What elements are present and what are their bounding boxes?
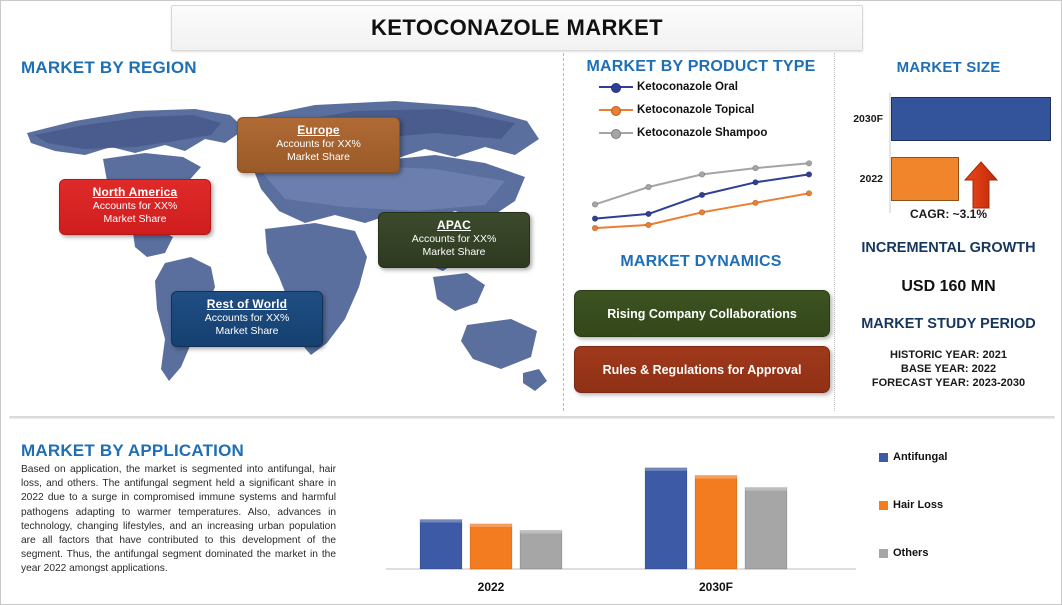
dynamics-label-regulations: Rules & Regulations for Approval bbox=[603, 363, 802, 377]
application-bar-chart: 20222030F bbox=[386, 451, 856, 596]
application-paragraph: Based on application, the market is segm… bbox=[21, 463, 336, 577]
heading-incremental-growth: INCREMENTAL GROWTH bbox=[846, 240, 1051, 256]
region-name-europe: Europe bbox=[242, 123, 395, 138]
product-type-line-chart bbox=[581, 151, 821, 246]
region-share-line1-apac: Accounts for XX% bbox=[383, 233, 525, 246]
legend-item-ketoconazole-shampoo[interactable]: Ketoconazole Shampoo bbox=[599, 127, 819, 139]
legend-marker-oral bbox=[599, 82, 633, 92]
vertical-divider-right bbox=[834, 53, 835, 411]
horizontal-divider bbox=[9, 416, 1055, 419]
region-name-apac: APAC bbox=[383, 218, 525, 233]
region-share-line1-europe: Accounts for XX% bbox=[242, 138, 395, 151]
legend-item-ketoconazole-oral[interactable]: Ketoconazole Oral bbox=[599, 81, 819, 93]
study-period-base-year: BASE YEAR: 2022 bbox=[846, 363, 1051, 375]
incremental-growth-value: USD 160 MN bbox=[846, 278, 1051, 296]
legend-label-oral: Ketoconazole Oral bbox=[637, 81, 738, 93]
legend-label-topical: Ketoconazole Topical bbox=[637, 104, 754, 116]
study-period-historic-year: HISTORIC YEAR: 2021 bbox=[846, 349, 1051, 361]
legend-item-hair-loss[interactable]: Hair Loss bbox=[879, 499, 1054, 511]
cagr-value: CAGR: ~3.1% bbox=[846, 207, 1051, 221]
region-callout-rest-of-world[interactable]: Rest of World Accounts for XX% Market Sh… bbox=[171, 291, 323, 347]
region-callout-apac[interactable]: APAC Accounts for XX% Market Share bbox=[378, 212, 530, 268]
heading-market-size: MARKET SIZE bbox=[846, 59, 1051, 76]
dynamics-item-collaborations[interactable]: Rising Company Collaborations bbox=[574, 290, 830, 337]
region-share-line2-apac: Market Share bbox=[383, 246, 525, 259]
product-type-legend: Ketoconazole Oral Ketoconazole Topical K… bbox=[599, 81, 819, 150]
svg-text:2030F: 2030F bbox=[699, 580, 733, 594]
region-share-line1-north-america: Accounts for XX% bbox=[64, 200, 206, 213]
page-title-bar: KETOCONAZOLE MARKET bbox=[171, 5, 863, 51]
heading-market-by-region: MARKET BY REGION bbox=[21, 58, 197, 78]
market-size-label-2030f: 2030F bbox=[841, 113, 883, 125]
legend-label-hair-loss: Hair Loss bbox=[893, 499, 943, 511]
infographic-page: KETOCONAZOLE MARKET MARKET BY REGION MAR… bbox=[0, 0, 1062, 605]
study-period-forecast-year: FORECAST YEAR: 2023-2030 bbox=[846, 377, 1051, 389]
legend-marker-others bbox=[879, 549, 888, 558]
market-size-bar-2030f bbox=[891, 97, 1051, 141]
market-size-bar-2022 bbox=[891, 157, 959, 201]
legend-label-antifungal: Antifungal bbox=[893, 451, 947, 463]
region-share-line2-north-america: Market Share bbox=[64, 213, 206, 226]
heading-market-study-period: MARKET STUDY PERIOD bbox=[846, 316, 1051, 332]
application-legend: Antifungal Hair Loss Others bbox=[879, 451, 1054, 595]
market-size-label-2022: 2022 bbox=[841, 173, 883, 185]
dynamics-label-collaborations: Rising Company Collaborations bbox=[607, 307, 797, 321]
region-callout-north-america[interactable]: North America Accounts for XX% Market Sh… bbox=[59, 179, 211, 235]
region-callout-europe[interactable]: Europe Accounts for XX% Market Share bbox=[237, 117, 400, 173]
legend-item-antifungal[interactable]: Antifungal bbox=[879, 451, 1054, 463]
legend-label-others: Others bbox=[893, 547, 928, 559]
legend-marker-topical bbox=[599, 105, 633, 115]
region-share-line2-rest-of-world: Market Share bbox=[176, 325, 318, 338]
page-title: KETOCONAZOLE MARKET bbox=[371, 15, 663, 41]
product-type-line-chart-svg bbox=[581, 151, 821, 246]
legend-marker-shampoo bbox=[599, 128, 633, 138]
heading-market-by-application: MARKET BY APPLICATION bbox=[21, 441, 244, 461]
heading-market-dynamics: MARKET DYNAMICS bbox=[581, 253, 821, 271]
legend-label-shampoo: Ketoconazole Shampoo bbox=[637, 127, 767, 139]
svg-text:2022: 2022 bbox=[478, 580, 505, 594]
up-arrow-icon bbox=[964, 161, 998, 209]
region-name-rest-of-world: Rest of World bbox=[176, 297, 318, 312]
legend-item-ketoconazole-topical[interactable]: Ketoconazole Topical bbox=[599, 104, 819, 116]
region-name-north-america: North America bbox=[64, 185, 206, 200]
legend-marker-antifungal bbox=[879, 453, 888, 462]
heading-market-by-product-type: MARKET BY PRODUCT TYPE bbox=[581, 58, 821, 76]
application-bar-chart-svg: 20222030F bbox=[386, 451, 856, 596]
region-share-line2-europe: Market Share bbox=[242, 151, 395, 164]
legend-item-others[interactable]: Others bbox=[879, 547, 1054, 559]
legend-marker-hair-loss bbox=[879, 501, 888, 510]
region-share-line1-rest-of-world: Accounts for XX% bbox=[176, 312, 318, 325]
dynamics-item-regulations[interactable]: Rules & Regulations for Approval bbox=[574, 346, 830, 393]
vertical-divider-left bbox=[563, 53, 564, 411]
